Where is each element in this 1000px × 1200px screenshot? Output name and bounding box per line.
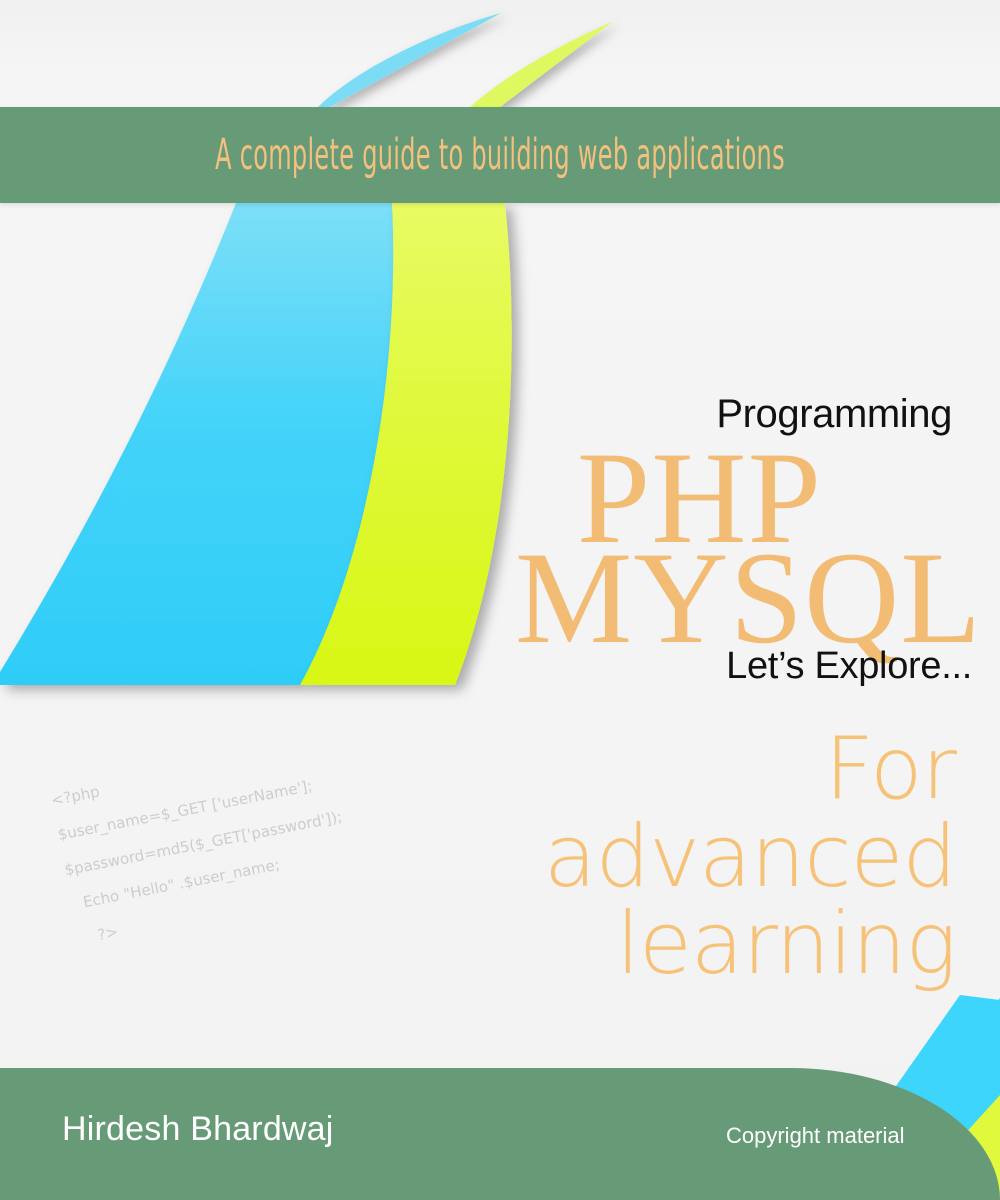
copyright-notice: Copyright material — [726, 1123, 905, 1149]
promo-line-3: learning — [316, 901, 956, 989]
subkicker-lets-explore: Let’s Explore... — [726, 645, 972, 688]
author-name: Hirdesh Bhardwaj — [62, 1110, 334, 1149]
tagline-text: A complete guide to building web applica… — [190, 107, 810, 203]
book-cover: A complete guide to building web applica… — [0, 0, 1000, 1200]
